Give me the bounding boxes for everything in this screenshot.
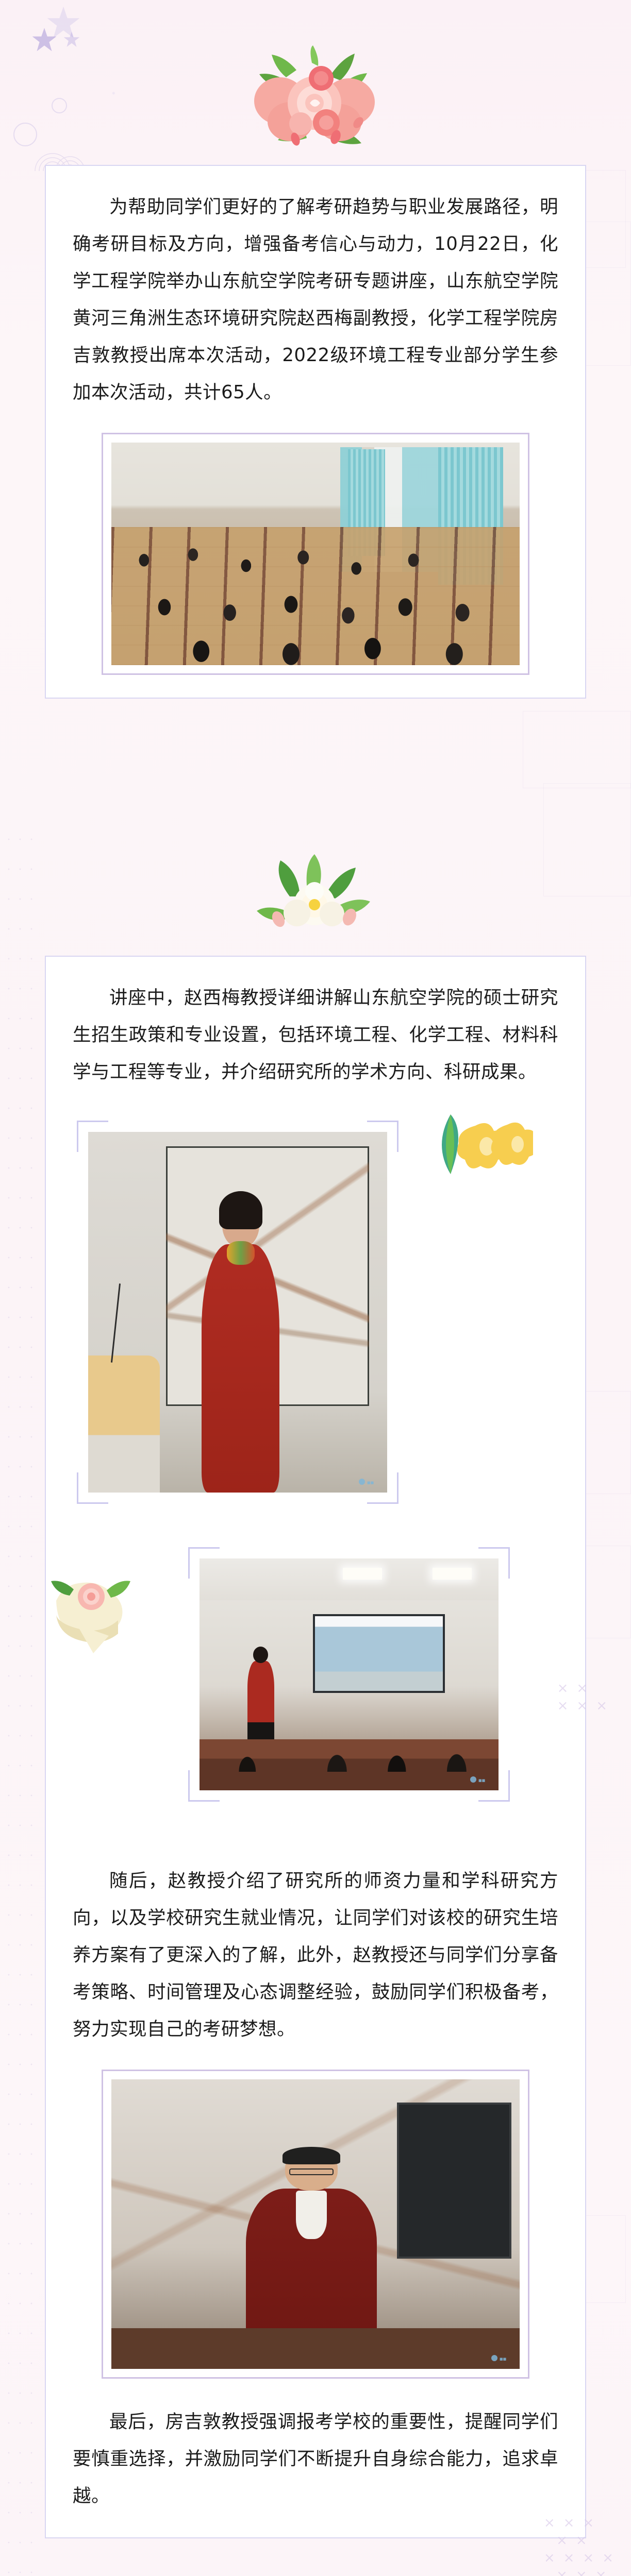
pastel-star-decoration bbox=[31, 27, 58, 54]
section-3-paragraph-1: 最后，房吉敦教授强调报考学校的重要性，提醒同学们要慎重选择，并激励同学们不断提升… bbox=[73, 2403, 558, 2515]
cream-cake-with-rose-ornament bbox=[42, 1570, 145, 1663]
lecture-hall-with-screen-photo: ■■ bbox=[200, 1558, 499, 1790]
photo-bracket-frame-zhao: ■■ bbox=[88, 1132, 387, 1493]
green-leaf-yellow-flowers-ornament bbox=[430, 1110, 533, 1177]
female-speaker-red-coat-photo: ■■ bbox=[88, 1132, 387, 1493]
svg-text:■■: ■■ bbox=[500, 2357, 506, 2361]
section-2-paragraph-1: 讲座中，赵西梅教授详细讲解山东航空学院的硕士研究生招生政策和专业设置，包括环境工… bbox=[73, 979, 558, 1091]
photo-watermark: ■■ bbox=[357, 1476, 381, 1487]
dotted-line-decoration bbox=[3, 824, 34, 2576]
section-1-paragraph-1: 为帮助同学们更好的了解考研趋势与职业发展路径，明确考研目标及方向，增强备考信心与… bbox=[73, 189, 558, 411]
section-1-text-card: 为帮助同学们更好的了解考研趋势与职业发展路径，明确考研目标及方向，增强备考信心与… bbox=[45, 165, 586, 699]
photo-watermark: ■■ bbox=[469, 1774, 492, 1785]
photo-bracket-frame-hall: ■■ bbox=[200, 1558, 499, 1790]
pastel-star-decoration bbox=[63, 31, 80, 48]
pink-flower-bouquet-ornament bbox=[235, 45, 394, 151]
section-2-text-card: 讲座中，赵西梅教授详细讲解山东航空学院的硕士研究生招生政策和专业设置，包括环境工… bbox=[45, 956, 586, 2538]
outline-circle-decoration bbox=[52, 98, 67, 113]
svg-text:■■: ■■ bbox=[367, 1481, 374, 1485]
green-leaf-white-flower-ornament bbox=[254, 849, 375, 931]
pastel-star-decoration bbox=[45, 5, 81, 41]
photo-frame-fang-professor: ■■ bbox=[102, 2070, 529, 2379]
outline-circle-decoration bbox=[13, 123, 37, 146]
article-page: 为帮助同学们更好的了解考研趋势与职业发展路径，明确考研目标及方向，增强备考信心与… bbox=[0, 0, 631, 2576]
photo-frame-audience-classroom bbox=[102, 433, 529, 675]
svg-text:■■: ■■ bbox=[478, 1778, 485, 1783]
section-2-paragraph-2: 随后，赵教授介绍了研究所的师资力量和学科研究方向，以及学校研究生就业情况，让同学… bbox=[73, 1862, 558, 2048]
photo-watermark: ■■ bbox=[490, 2352, 513, 2364]
male-professor-speaking-photo: ■■ bbox=[111, 2079, 520, 2369]
classroom-audience-photo bbox=[111, 443, 520, 665]
